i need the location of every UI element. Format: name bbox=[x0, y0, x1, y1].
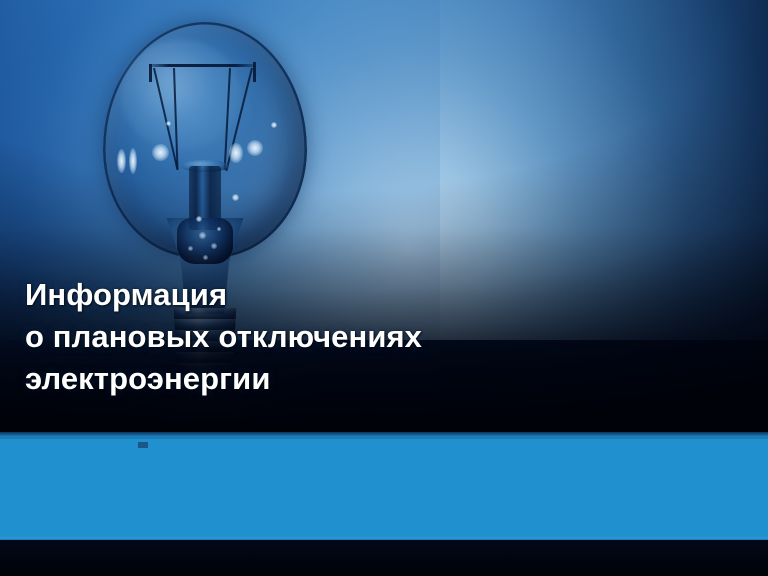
image-artifact-mark bbox=[138, 442, 148, 448]
title-line-1: Информация bbox=[25, 274, 625, 316]
footer-bar bbox=[0, 540, 768, 576]
accent-bar bbox=[0, 436, 768, 540]
title-line-2: о плановых отключениях bbox=[25, 316, 625, 358]
slide-canvas: Информация о плановых отключениях электр… bbox=[0, 0, 768, 576]
accent-bar-top-edge bbox=[0, 436, 768, 439]
title-line-3: электроэнергии bbox=[25, 358, 625, 400]
slide-title: Информация о плановых отключениях электр… bbox=[25, 274, 625, 400]
